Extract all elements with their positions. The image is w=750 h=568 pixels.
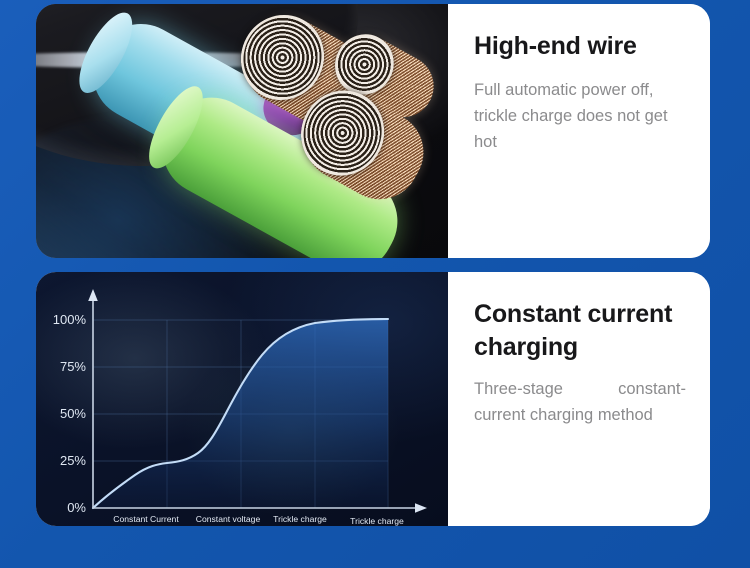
y-tick-label: 75% xyxy=(60,359,86,374)
card-body-text: Three-stage constant-current charging me… xyxy=(474,376,686,428)
chart-x-tick-labels: Constant Current Charging Constant volta… xyxy=(113,514,404,526)
feature-card-high-end-wire: High-end wire Full automatic power off, … xyxy=(36,4,710,258)
x-tick-label-line1: Constant voltage xyxy=(196,514,261,524)
x-tick-label-line2: charging xyxy=(212,524,245,526)
card-title: Constant current charging xyxy=(474,298,686,364)
chart-area-fill xyxy=(93,319,388,508)
x-tick-label: Trickle charge xyxy=(350,516,404,526)
card-text-panel: Constant current charging Three-stage co… xyxy=(448,272,710,526)
x-tick-label-line2: Charging xyxy=(129,524,164,526)
feature-card-constant-current-charging: 100% 75% 50% 25% 0% Constant Current Cha… xyxy=(36,272,710,526)
product-feature-page: High-end wire Full automatic power off, … xyxy=(0,0,750,568)
x-tick-label-line1: Constant Current xyxy=(113,514,179,524)
y-tick-label: 100% xyxy=(53,312,87,327)
cable-photo xyxy=(36,4,448,258)
y-tick-label: 25% xyxy=(60,453,86,468)
chart-y-tick-labels: 100% 75% 50% 25% 0% xyxy=(53,312,87,515)
card-text-panel: High-end wire Full automatic power off, … xyxy=(448,4,710,258)
chart-svg: 100% 75% 50% 25% 0% Constant Current Cha… xyxy=(36,272,448,526)
chart-y-axis xyxy=(88,289,98,508)
charging-curve-chart: 100% 75% 50% 25% 0% Constant Current Cha… xyxy=(36,272,448,526)
y-tick-label: 50% xyxy=(60,406,86,421)
card-title: High-end wire xyxy=(474,30,686,63)
y-tick-label: 0% xyxy=(67,500,86,515)
x-tick-label: Trickle charge xyxy=(273,514,327,524)
card-body-text: Full automatic power off, trickle charge… xyxy=(474,77,686,155)
